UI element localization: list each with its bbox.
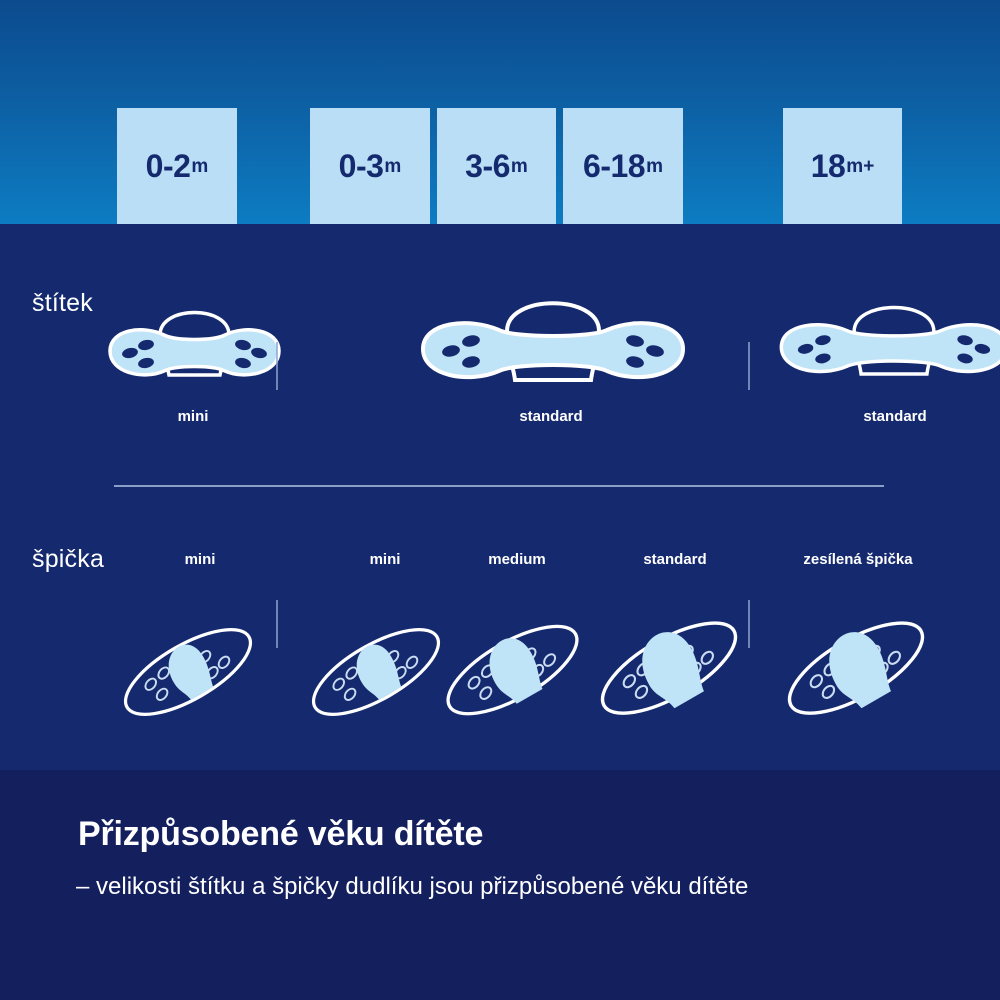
- pacifier-shield-icon: [92, 283, 297, 393]
- teat-caption-1: mini: [370, 551, 401, 568]
- pacifier-shield-icon: [403, 276, 703, 394]
- age-badge-0-3m: 0-3 m: [310, 108, 430, 224]
- age-badge-3-6m: 3-6 m: [437, 108, 556, 224]
- age-badge-main-3: 6-18: [583, 150, 645, 182]
- teat-caption-0: mini: [185, 551, 216, 568]
- age-badge-18m-plus: 18 m+: [783, 108, 902, 224]
- shield-row-divider-1: [276, 342, 278, 390]
- teat-caption-2: medium: [488, 551, 546, 568]
- age-badge-main-4: 18: [811, 150, 846, 182]
- teat-caption-4: zesílená špička: [803, 551, 912, 568]
- age-badge-0-2m: 0-2 m: [117, 108, 237, 224]
- age-badge-main-1: 0-3: [339, 150, 384, 182]
- shield-caption-1: standard: [519, 408, 582, 425]
- age-badge-unit-1: m: [384, 157, 401, 176]
- age-badge-main-0: 0-2: [146, 150, 191, 182]
- pacifier-teat-icon: [430, 604, 595, 732]
- shield-illustration-mini: [92, 283, 297, 393]
- age-badge-unit-4: m+: [846, 157, 874, 176]
- bottom-body-text: – velikosti štítku a špičky dudlíku jsou…: [76, 868, 936, 907]
- age-badge-6-18m: 6-18 m: [563, 108, 683, 224]
- age-band: 0-2 m 0-3 m 3-6 m 6-18 m 18 m+: [0, 0, 1000, 224]
- shield-caption-2: standard: [863, 408, 926, 425]
- pacifier-teat-icon: [583, 600, 755, 732]
- shield-illustration-standard-2: [764, 276, 1000, 394]
- age-badge-main-2: 3-6: [465, 150, 510, 182]
- infographic-root: 0-2 m 0-3 m 3-6 m 6-18 m 18 m+ štítek: [0, 0, 1000, 1000]
- teat-row-divider-1: [276, 600, 278, 648]
- shield-caption-0: mini: [178, 408, 209, 425]
- pacifier-teat-icon: [108, 608, 268, 732]
- shield-illustration-standard-1: [403, 276, 703, 394]
- section-divider: [114, 485, 884, 487]
- shield-row-divider-2: [748, 342, 750, 390]
- teat-illustration-medium: [430, 604, 595, 732]
- teat-caption-3: standard: [643, 551, 706, 568]
- age-badge-unit-0: m: [191, 157, 208, 176]
- age-badge-unit-3: m: [646, 157, 663, 176]
- age-badge-unit-2: m: [511, 157, 528, 176]
- teat-illustration-zesilena-spicka: [770, 600, 942, 732]
- row-label-stitek: štítek: [32, 289, 93, 318]
- teat-row-divider-2: [748, 600, 750, 648]
- bottom-text-panel: Přizpůsobené věku dítěte – velikosti ští…: [0, 770, 1000, 1000]
- row-label-spicka: špička: [32, 545, 104, 574]
- bottom-title: Přizpůsobené věku dítěte: [78, 815, 483, 854]
- teat-illustration-mini-1: [108, 608, 268, 732]
- teat-illustration-standard: [583, 600, 755, 732]
- pacifier-teat-icon: [770, 600, 942, 732]
- pacifier-shield-icon: [764, 276, 1000, 394]
